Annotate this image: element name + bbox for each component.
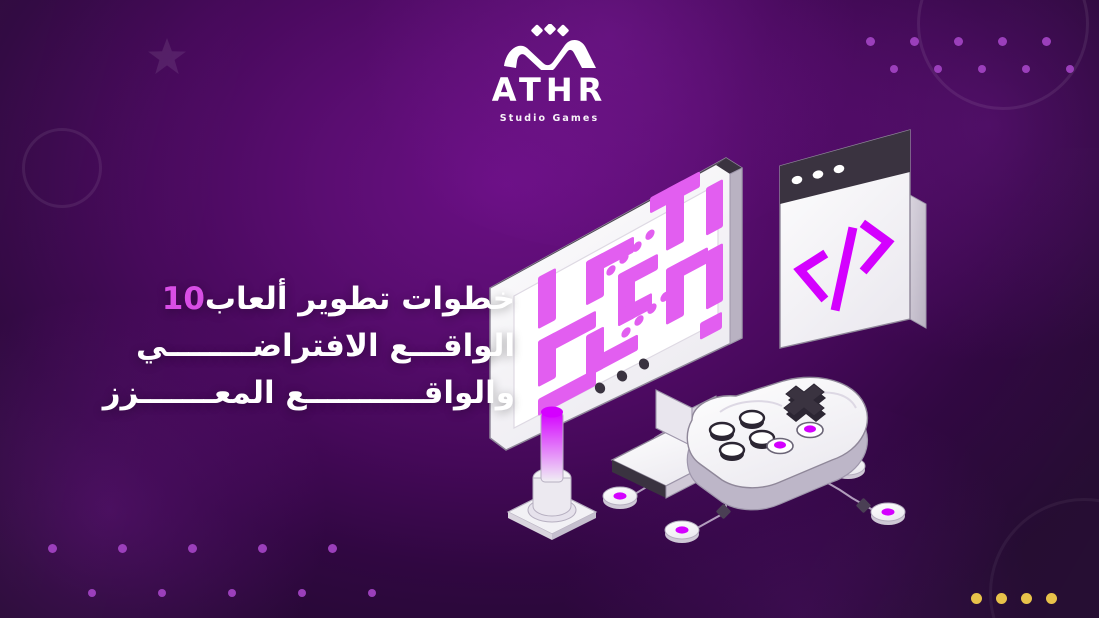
pagination-dot-4[interactable] bbox=[1046, 593, 1057, 604]
isometric-code-window bbox=[780, 130, 926, 348]
athr-crown-logo-icon bbox=[502, 24, 598, 70]
headline-line-1: خطوات تطوير ألعاب10 bbox=[60, 276, 515, 323]
isometric-illustration bbox=[480, 120, 980, 570]
headline-number: 10 bbox=[162, 281, 205, 317]
brand-tagline: Studio Games bbox=[500, 113, 599, 124]
pagination-dot-1[interactable] bbox=[971, 593, 982, 604]
pagination-dots[interactable] bbox=[971, 593, 1057, 604]
headline-block: خطوات تطوير ألعاب10 الواقـــع الافتراضــ… bbox=[60, 276, 515, 417]
brand-name: ATHR bbox=[492, 74, 608, 106]
pagination-dot-2[interactable] bbox=[996, 593, 1007, 604]
headline-line-3: والواقـــــــــــع المعـــــــزز bbox=[60, 370, 515, 417]
brand-logo: ATHR Studio Games bbox=[0, 24, 1099, 124]
isometric-gamepad bbox=[687, 371, 871, 510]
decorative-ring-left bbox=[22, 128, 102, 208]
headline-line-2: الواقـــع الافتراضــــــــي bbox=[60, 323, 515, 370]
pagination-dot-3[interactable] bbox=[1021, 593, 1032, 604]
headline-rest: خطوات تطوير ألعاب bbox=[205, 281, 515, 317]
banner-canvas: ATHR Studio Games خطوات تطوير ألعاب10 ال… bbox=[0, 0, 1099, 618]
